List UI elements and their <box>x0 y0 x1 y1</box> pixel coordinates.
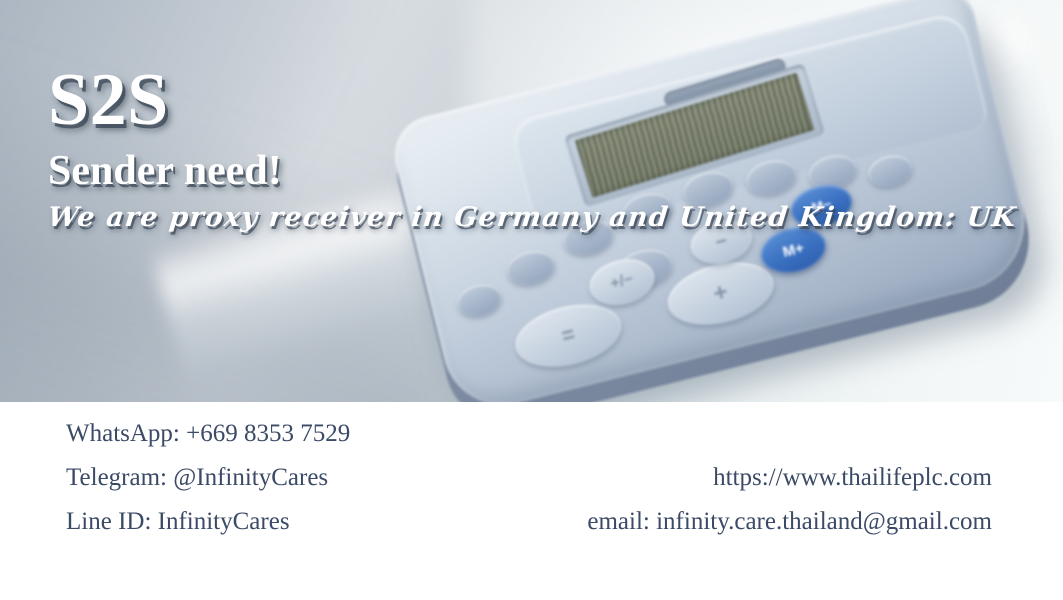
promo-banner: = +/− + − M+ M− S2S Sender need! We are … <box>0 0 1063 600</box>
contact-row: WhatsApp: +669 8353 7529 <box>66 420 1006 464</box>
contact-line-id[interactable]: Line ID: InfinityCares <box>66 508 496 536</box>
hero-tagline: We are proxy receiver in Germany and Uni… <box>46 203 869 233</box>
contact-row: Telegram: @InfinityCares https://www.tha… <box>66 464 1006 508</box>
contact-band: WhatsApp: +669 8353 7529 Telegram: @Infi… <box>0 402 1063 600</box>
contact-telegram[interactable]: Telegram: @InfinityCares <box>66 464 496 492</box>
hero-subtitle: Sender need! <box>48 149 868 193</box>
calculator-key-plus: + <box>661 252 780 334</box>
contact-whatsapp[interactable]: WhatsApp: +669 8353 7529 <box>66 420 496 448</box>
calculator-key-equals: = <box>509 294 628 376</box>
calculator-key-blank <box>865 151 915 191</box>
contact-row: Line ID: InfinityCares email: infinity.c… <box>66 508 1006 552</box>
hero-title: S2S <box>48 64 868 137</box>
contact-email[interactable]: email: infinity.care.thailand@gmail.com <box>496 508 1006 536</box>
hero-text-block: S2S Sender need! We are proxy receiver i… <box>48 64 868 232</box>
contact-website-link[interactable]: https://www.thailifeplc.com <box>496 464 1006 492</box>
calculator-key-blank <box>504 246 558 289</box>
calculator-key-blank <box>454 280 504 320</box>
contact-grid: WhatsApp: +669 8353 7529 Telegram: @Infi… <box>66 420 1006 552</box>
hero-photo-band: = +/− + − M+ M− S2S Sender need! We are … <box>0 0 1063 402</box>
